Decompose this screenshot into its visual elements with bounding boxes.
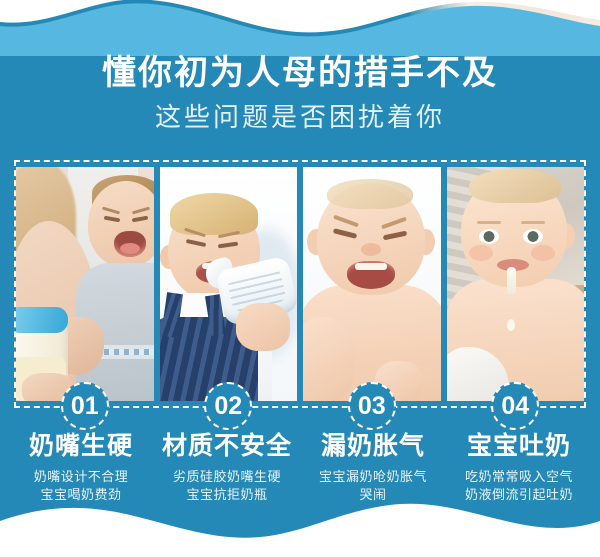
- number-cell-4: 04: [447, 382, 585, 434]
- caption-line-4-1: 吃奶常常吸入空气: [448, 468, 590, 486]
- caption-line-2-1: 劣质硅胶奶嘴生硬: [156, 468, 298, 486]
- page-subtitle: 这些问题是否困扰着你: [0, 100, 600, 134]
- bottom-wave-icon: [0, 487, 600, 557]
- caption-title-4: 宝宝吐奶: [448, 430, 590, 462]
- caption-title-1: 奶嘴生硬: [10, 430, 152, 462]
- number-badge-02: 02: [204, 382, 252, 430]
- caption-line-1-1: 奶嘴设计不合理: [10, 468, 152, 486]
- number-cell-3: 03: [303, 382, 441, 434]
- header-text-block: 懂你初为人母的措手不及 这些问题是否困扰着你: [0, 52, 600, 134]
- caption-title-3: 漏奶胀气: [302, 430, 444, 462]
- caption-title-2: 材质不安全: [156, 430, 298, 462]
- caption-line-3-1: 宝宝漏奶呛奶胀气: [302, 468, 444, 486]
- page-title: 懂你初为人母的措手不及: [0, 52, 600, 94]
- number-cell-1: 01: [16, 382, 154, 434]
- photo-item-1: [16, 167, 154, 401]
- photo-row: [16, 167, 584, 401]
- top-wave-white-icon: [0, 0, 600, 48]
- photo-item-4: [447, 167, 585, 401]
- promo-poster: 懂你初为人母的措手不及 这些问题是否困扰着你: [0, 0, 600, 557]
- photo-item-2: [160, 167, 298, 401]
- photo-item-3: [303, 167, 441, 401]
- number-badge-row: 01 02 03 04: [16, 382, 584, 434]
- number-cell-2: 02: [160, 382, 298, 434]
- number-badge-01: 01: [61, 382, 109, 430]
- number-badge-03: 03: [348, 382, 396, 430]
- number-badge-04: 04: [491, 382, 539, 430]
